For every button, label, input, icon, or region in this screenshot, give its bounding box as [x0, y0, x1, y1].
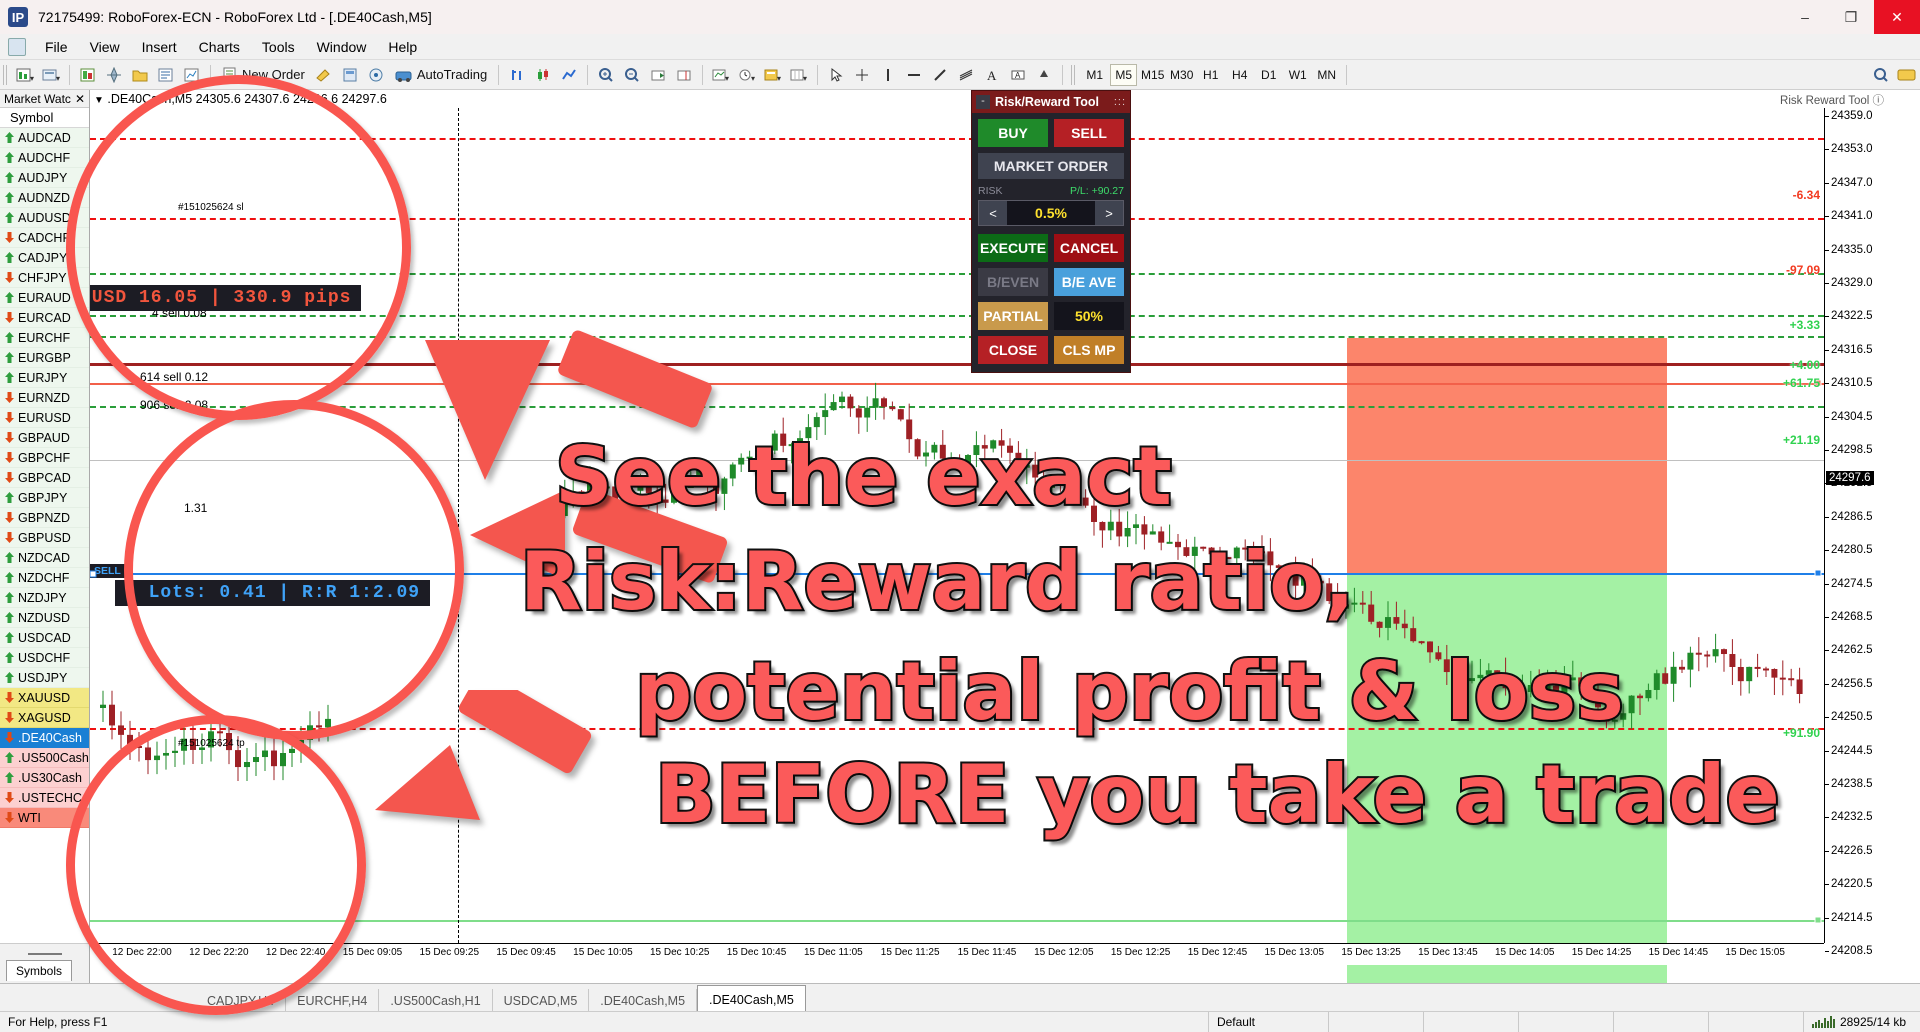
svg-text:▾: ▾: [803, 74, 807, 83]
equidistant-channel-icon[interactable]: [955, 64, 977, 86]
search-icon[interactable]: [1870, 64, 1892, 86]
symbol-label: GBPNZD: [18, 511, 70, 525]
price-tick-label: 24359.0: [1831, 110, 1873, 122]
zoom-in-icon[interactable]: [595, 64, 617, 86]
partial-button[interactable]: PARTIAL: [978, 302, 1048, 330]
symbol-row[interactable]: NZDCHF: [0, 568, 89, 588]
arrow-down-icon: [4, 432, 15, 443]
risk-reward-tool-panel[interactable]: - Risk/Reward Tool ::: BUY SELL MARKET O…: [971, 90, 1131, 373]
rr-panel-body: BUY SELL MARKET ORDER RISK P/L: +90.27 <…: [972, 113, 1130, 372]
symbol-label: CADCHF: [18, 231, 70, 245]
svg-text:A: A: [1015, 71, 1021, 80]
price-tick-label: 24268.5: [1831, 611, 1873, 623]
signals-icon[interactable]: [365, 64, 387, 86]
symbol-label: AUDCAD: [18, 131, 71, 145]
price-tick-label: 24220.5: [1831, 878, 1873, 890]
time-tick-label: 15 Dec 11:05: [804, 947, 863, 958]
level-value-tag: +91.90: [1783, 726, 1820, 740]
time-tick-label: 15 Dec 13:05: [1265, 947, 1325, 958]
market-watch-footer: Symbols: [0, 943, 90, 983]
mt-icon: [8, 38, 26, 56]
arrow-up-icon: [4, 372, 15, 383]
time-scale[interactable]: 12 Dec 22:0012 Dec 22:2012 Dec 22:4015 D…: [90, 943, 1824, 965]
text-label-icon[interactable]: A: [1007, 64, 1029, 86]
symbol-row[interactable]: GBPNZD: [0, 508, 89, 528]
time-tick-label: 15 Dec 10:25: [650, 947, 710, 958]
indicators-icon[interactable]: ▾: [710, 64, 732, 86]
symbol-row[interactable]: EURCHF: [0, 328, 89, 348]
risk-value[interactable]: 0.5%: [1007, 201, 1095, 225]
price-tick-mark: [1825, 784, 1829, 785]
arrow-down-icon: [4, 792, 15, 803]
timeframe-grip[interactable]: [1071, 65, 1077, 85]
time-tick-label: 15 Dec 13:45: [1418, 947, 1478, 958]
crosshair-icon[interactable]: [851, 64, 873, 86]
symbol-row[interactable]: AUDCHF: [0, 148, 89, 168]
arrow-down-icon: [4, 452, 15, 463]
status-help-text: For Help, press F1: [0, 1015, 107, 1029]
svg-text:▾: ▾: [30, 74, 34, 83]
time-tick-label: 15 Dec 09:45: [496, 947, 556, 958]
symbol-label: GBPAUD: [18, 431, 70, 445]
arrow-down-icon: [4, 712, 15, 723]
auto-scroll-icon[interactable]: [647, 64, 669, 86]
symbol-label: EURGBP: [18, 351, 71, 365]
navigator-icon[interactable]: [103, 64, 125, 86]
arrow-down-icon: [4, 692, 15, 703]
price-tick-label: 24322.5: [1831, 310, 1873, 322]
symbol-label: XAUUSD: [18, 691, 70, 705]
symbol-row[interactable]: .US30Cash: [0, 768, 89, 788]
symbol-label: .USTECHC: [18, 791, 82, 805]
price-tick-mark: [1825, 216, 1829, 217]
symbol-row[interactable]: .DE40Cash: [0, 728, 89, 748]
arrow-up-icon: [4, 352, 15, 363]
arrow-to-top-callout: [425, 330, 725, 500]
mql5-community-icon[interactable]: [1896, 64, 1918, 86]
price-tick-label: 24238.5: [1831, 778, 1873, 790]
symbol-row[interactable]: XAUUSD: [0, 688, 89, 708]
price-tick-label: 24341.0: [1831, 210, 1873, 222]
chart-tab[interactable]: .US500Cash,H1: [379, 989, 492, 1011]
arrow-up-icon: [4, 172, 15, 183]
arrow-up-icon: [4, 632, 15, 643]
arrow-up-icon: [4, 612, 15, 623]
symbol-label: USDCAD: [18, 631, 71, 645]
profiles-icon[interactable]: ▾: [40, 64, 62, 86]
chart-tab[interactable]: EURCHF,H4: [286, 989, 379, 1011]
price-tick-mark: [1825, 517, 1829, 518]
expert-advisors-icon[interactable]: [339, 64, 361, 86]
close-mp-button[interactable]: CLS MP: [1054, 336, 1124, 364]
price-tick-mark: [1825, 817, 1829, 818]
price-tick-label: 24250.5: [1831, 711, 1873, 723]
symbol-label: GBPUSD: [18, 531, 71, 545]
menu-bar: FileViewInsertChartsToolsWindowHelp: [0, 34, 1920, 60]
chart-tab[interactable]: .DE40Cash,M5: [697, 985, 806, 1011]
level-value-tag: +3.33: [1790, 318, 1820, 332]
time-tick-label: 15 Dec 10:45: [727, 947, 787, 958]
symbol-row[interactable]: NZDUSD: [0, 608, 89, 628]
bar-chart-icon[interactable]: [506, 64, 528, 86]
price-tick-label: 24310.5: [1831, 377, 1873, 389]
buy-button[interactable]: BUY: [978, 119, 1048, 147]
app-logo-icon: IP: [8, 7, 28, 27]
timeframes-icon[interactable]: ▾: [736, 64, 758, 86]
level-value-tag: -97.09: [1786, 263, 1820, 277]
signal-bars-icon: [1812, 1016, 1835, 1028]
menu-view[interactable]: View: [79, 37, 131, 57]
symbol-row[interactable]: USDJPY: [0, 668, 89, 688]
risk-row-labels: RISK P/L: +90.27: [978, 185, 1124, 197]
price-tick-mark: [1825, 951, 1829, 952]
arrow-down-icon: [4, 392, 15, 403]
arrow-up-icon: [4, 572, 15, 583]
current-price-label: 24297.6: [1826, 471, 1874, 485]
market-watch-title: Market Watc: [4, 92, 71, 106]
terminal-icon[interactable]: [155, 64, 177, 86]
level-value-tag: +4.00: [1790, 358, 1820, 372]
toolbar-grip[interactable]: [3, 65, 9, 85]
price-tick-mark: [1825, 650, 1829, 651]
symbol-label: AUDNZD: [18, 191, 70, 205]
menu-help[interactable]: Help: [377, 37, 428, 57]
symbols-tab[interactable]: Symbols: [6, 960, 72, 981]
callout-circle-bottom: [66, 715, 366, 1015]
symbol-row[interactable]: XAGUSD: [0, 708, 89, 728]
time-tick-label: 15 Dec 12:45: [1188, 947, 1248, 958]
window-title: 72175499: RoboForex-ECN - RoboForex Ltd …: [38, 9, 432, 25]
symbol-row[interactable]: EURUSD: [0, 408, 89, 428]
arrow-up-icon: [4, 552, 15, 563]
arrow-to-bottom-callout: [375, 690, 615, 830]
price-tick-mark: [1825, 884, 1829, 885]
break-even-button[interactable]: B/EVEN: [978, 268, 1048, 296]
time-tick-label: 15 Dec 14:05: [1495, 947, 1555, 958]
level-value-tag: +21.19: [1783, 433, 1820, 447]
price-tick-label: 24226.5: [1831, 845, 1873, 857]
time-tick-label: 15 Dec 10:05: [573, 947, 633, 958]
arrow-down-icon: [4, 232, 15, 243]
svg-text:A: A: [987, 68, 997, 83]
menu-charts[interactable]: Charts: [188, 37, 251, 57]
arrow-down-icon: [4, 532, 15, 543]
menu-file[interactable]: File: [34, 37, 79, 57]
price-tick-label: 24232.5: [1831, 811, 1873, 823]
price-tick-label: 24335.0: [1831, 244, 1873, 256]
arrow-up-icon: [4, 212, 15, 223]
symbol-label: CHFJPY: [18, 271, 67, 285]
symbol-label: CADJPY: [18, 251, 67, 265]
symbol-row[interactable]: NZDJPY: [0, 588, 89, 608]
be-average-button[interactable]: B/E AVE: [1054, 268, 1124, 296]
timeframe-mn[interactable]: MN: [1313, 64, 1340, 86]
symbol-label: NZDCHF: [18, 571, 69, 585]
arrow-down-icon: [4, 272, 15, 283]
drag-handle-icon[interactable]: :::: [1114, 96, 1126, 108]
symbol-label: WTI: [18, 811, 41, 825]
arrow-down-icon: [4, 512, 15, 523]
horizontal-line-icon[interactable]: [903, 64, 925, 86]
price-tick-label: 24208.5: [1831, 945, 1873, 957]
symbol-label: XAGUSD: [18, 711, 71, 725]
autotrading-label: AutoTrading: [417, 67, 487, 82]
symbol-label: AUDUSD: [18, 211, 71, 225]
price-tick-mark: [1825, 350, 1829, 351]
menu-insert[interactable]: Insert: [131, 37, 188, 57]
price-tick-label: 24329.0: [1831, 277, 1873, 289]
arrow-up-icon: [4, 652, 15, 663]
zoom-out-icon[interactable]: [621, 64, 643, 86]
market-watch-icon[interactable]: [77, 64, 99, 86]
arrow-up-icon: [4, 672, 15, 683]
timeframe-m5[interactable]: M5: [1110, 64, 1137, 86]
data-folder-icon[interactable]: [129, 64, 151, 86]
time-tick-label: 15 Dec 12:25: [1111, 947, 1171, 958]
arrow-down-icon: [4, 312, 15, 323]
symbol-row[interactable]: EURCAD: [0, 308, 89, 328]
price-tick-mark: [1825, 450, 1829, 451]
svg-text:▾: ▾: [751, 74, 755, 83]
text-icon[interactable]: A: [981, 64, 1003, 86]
title-bar: IP 72175499: RoboForex-ECN - RoboForex L…: [0, 0, 1920, 34]
menu-tools[interactable]: Tools: [251, 37, 306, 57]
symbol-row[interactable]: GBPCHF: [0, 448, 89, 468]
time-tick-label: 15 Dec 13:25: [1341, 947, 1401, 958]
price-tick-label: 24353.0: [1831, 143, 1873, 155]
arrow-down-icon: [4, 812, 15, 823]
arrow-up-icon: [4, 592, 15, 603]
arrow-up-icon: [4, 252, 15, 263]
metaeditor-icon[interactable]: [313, 64, 335, 86]
maximize-button[interactable]: ❐: [1828, 0, 1874, 34]
symbol-row[interactable]: GBPJPY: [0, 488, 89, 508]
arrow-up-icon: [4, 152, 15, 163]
risk-decrease-button[interactable]: <: [979, 201, 1007, 225]
timeframe-h1[interactable]: H1: [1197, 64, 1224, 86]
symbol-label: NZDJPY: [18, 591, 67, 605]
arrow-down-icon: [4, 732, 15, 743]
price-tick-mark: [1825, 918, 1829, 919]
symbol-row[interactable]: EURJPY: [0, 368, 89, 388]
arrow-down-icon: [4, 412, 15, 423]
price-tick-mark: [1825, 417, 1829, 418]
sell-button[interactable]: SELL: [1054, 119, 1124, 147]
status-cell-3: [1518, 1012, 1613, 1032]
status-cell-4: [1613, 1012, 1708, 1032]
symbol-label: GBPCHF: [18, 451, 70, 465]
price-tick-mark: [1825, 851, 1829, 852]
vertical-line-icon[interactable]: [877, 64, 899, 86]
menu-window[interactable]: Window: [306, 37, 378, 57]
market-order-button[interactable]: MARKET ORDER: [978, 153, 1124, 179]
cursor-icon[interactable]: [825, 64, 847, 86]
price-tick-mark: [1825, 116, 1829, 117]
price-tick-label: 24244.5: [1831, 745, 1873, 757]
market-watch-header: Market Watc ✕: [0, 90, 89, 108]
symbol-row[interactable]: AUDJPY: [0, 168, 89, 188]
sell-badge-handle[interactable]: [90, 571, 97, 578]
timeframe-m1[interactable]: M1: [1081, 64, 1108, 86]
price-tick-label: 24256.5: [1831, 678, 1873, 690]
symbol-row[interactable]: .US500Cash: [0, 748, 89, 768]
window-controls: – ❐ ✕: [1782, 0, 1920, 34]
arrow-up-icon: [4, 492, 15, 503]
rr-panel-title: Risk/Reward Tool: [995, 95, 1099, 109]
price-scale[interactable]: 24359.024353.024347.024341.024335.024329…: [1824, 108, 1920, 943]
traffic-label: 28925/14 kb: [1840, 1015, 1906, 1029]
bid-handle[interactable]: [1815, 570, 1822, 577]
symbol-label: EURCHF: [18, 331, 70, 345]
symbol-row[interactable]: EURGBP: [0, 348, 89, 368]
price-tick-mark: [1825, 617, 1829, 618]
grid-icon[interactable]: ▾: [788, 64, 810, 86]
rr-minimize-button[interactable]: -: [976, 95, 990, 109]
chart-tab[interactable]: .DE40Cash,M5: [589, 989, 697, 1011]
time-tick-label: 15 Dec 14:25: [1572, 947, 1632, 958]
symbol-row[interactable]: AUDCAD: [0, 128, 89, 148]
price-tick-mark: [1825, 183, 1829, 184]
line-chart-icon[interactable]: [558, 64, 580, 86]
candlestick-chart-icon[interactable]: [532, 64, 554, 86]
price-tick-label: 24347.0: [1831, 177, 1873, 189]
symbol-label: AUDCHF: [18, 151, 70, 165]
scroll-slider[interactable]: [28, 953, 62, 955]
arrow-up-icon: [4, 132, 15, 143]
symbol-label: AUDJPY: [18, 171, 67, 185]
close-position-button[interactable]: CLOSE: [978, 336, 1048, 364]
templates-icon[interactable]: ▾: [762, 64, 784, 86]
execute-button[interactable]: EXECUTE: [978, 234, 1048, 262]
symbol-label: EURJPY: [18, 371, 67, 385]
new-chart-icon[interactable]: ▾: [14, 64, 36, 86]
symbol-label: NZDCAD: [18, 551, 70, 565]
symbol-row[interactable]: USDCAD: [0, 628, 89, 648]
timeframe-d1[interactable]: D1: [1255, 64, 1282, 86]
symbol-label: EURNZD: [18, 391, 70, 405]
arrow-up-icon: [4, 292, 15, 303]
time-tick-label: 15 Dec 14:45: [1649, 947, 1709, 958]
rr-panel-titlebar[interactable]: - Risk/Reward Tool :::: [972, 91, 1130, 113]
arrow-up-icon: [4, 772, 15, 783]
callout-circle-top: [66, 75, 411, 420]
arrow-down-icon: [4, 472, 15, 483]
symbol-label: .US30Cash: [18, 771, 82, 785]
time-tick-label: 15 Dec 11:25: [881, 947, 940, 958]
status-bar: For Help, press F1 Default 28925/14 kb: [0, 1011, 1920, 1032]
svg-text:▾: ▾: [725, 74, 729, 83]
symbol-label: GBPJPY: [18, 491, 67, 505]
partial-percent-button[interactable]: 50%: [1054, 302, 1124, 330]
timeframe-h4[interactable]: H4: [1226, 64, 1253, 86]
symbol-label: NZDUSD: [18, 611, 70, 625]
risk-label: RISK: [978, 185, 1003, 197]
price-tick-mark: [1825, 717, 1829, 718]
close-icon[interactable]: ✕: [75, 92, 85, 106]
timeframe-w1[interactable]: W1: [1284, 64, 1311, 86]
status-cell-5: [1708, 1012, 1803, 1032]
time-tick-label: 15 Dec 09:25: [420, 947, 480, 958]
symbol-row[interactable]: USDCHF: [0, 648, 89, 668]
price-tick-label: 24274.5: [1831, 578, 1873, 590]
price-tick-label: 24214.5: [1831, 912, 1873, 924]
risk-increase-button[interactable]: >: [1095, 201, 1123, 225]
time-tick-label: 15 Dec 15:05: [1725, 947, 1785, 958]
pl-label: P/L: +90.27: [1070, 185, 1124, 197]
chart-tab[interactable]: USDCAD,M5: [493, 989, 590, 1011]
price-tick-mark: [1825, 383, 1829, 384]
price-tick-mark: [1825, 751, 1829, 752]
autotrading-button[interactable]: AutoTrading: [389, 65, 493, 85]
symbol-row[interactable]: .USTECHC: [0, 788, 89, 808]
symbol-label: EURCAD: [18, 311, 71, 325]
price-tick-label: 24298.5: [1831, 444, 1873, 456]
minimize-button[interactable]: –: [1782, 0, 1828, 34]
price-tick-mark: [1825, 250, 1829, 251]
symbol-label: USDCHF: [18, 651, 70, 665]
status-cell-2: [1423, 1012, 1518, 1032]
tp-handle[interactable]: [1815, 917, 1822, 924]
price-tick-mark: [1825, 316, 1829, 317]
status-traffic: 28925/14 kb: [1803, 1012, 1920, 1032]
arrow-up-icon: [4, 332, 15, 343]
level-value-tag: -6.34: [1793, 188, 1820, 202]
symbol-row[interactable]: GBPUSD: [0, 528, 89, 548]
symbol-label: .DE40Cash: [18, 731, 82, 745]
svg-text:▾: ▾: [56, 74, 60, 83]
price-tick-label: 24286.5: [1831, 511, 1873, 523]
status-cell-1: [1328, 1012, 1423, 1032]
price-tick-mark: [1825, 584, 1829, 585]
time-tick-label: 15 Dec 09:05: [343, 947, 403, 958]
timeframe-m15[interactable]: M15: [1139, 64, 1166, 86]
symbol-label: .US500Cash: [18, 751, 89, 765]
price-tick-label: 24316.5: [1831, 344, 1873, 356]
time-tick-label: 15 Dec 11:45: [958, 947, 1017, 958]
symbol-label: USDJPY: [18, 671, 67, 685]
callout-circle-middle: [124, 400, 464, 740]
status-profile: Default: [1208, 1012, 1328, 1032]
level-value-tag: +61.75: [1783, 376, 1820, 390]
symbol-row[interactable]: NZDCAD: [0, 548, 89, 568]
price-tick-mark: [1825, 283, 1829, 284]
symbol-row[interactable]: GBPAUD: [0, 428, 89, 448]
trendline-icon[interactable]: [929, 64, 951, 86]
risk-stepper: < 0.5% >: [978, 200, 1124, 226]
symbol-label: EURUSD: [18, 411, 71, 425]
cancel-button[interactable]: CANCEL: [1054, 234, 1124, 262]
arrow-to-middle-callout: [470, 490, 810, 610]
symbol-row[interactable]: GBPCAD: [0, 468, 89, 488]
svg-text:▾: ▾: [777, 74, 781, 83]
price-tick-label: 24280.5: [1831, 544, 1873, 556]
symbol-column-header[interactable]: Symbol: [0, 108, 89, 128]
chart-shift-icon[interactable]: [673, 64, 695, 86]
symbol-row[interactable]: EURNZD: [0, 388, 89, 408]
timeframe-m30[interactable]: M30: [1168, 64, 1195, 86]
price-tick-mark: [1825, 550, 1829, 551]
price-tick-label: 24304.5: [1831, 411, 1873, 423]
symbol-label: EURAUD: [18, 291, 71, 305]
indicator-label: Risk Reward Tool ⓘ: [1780, 92, 1884, 108]
symbol-label: GBPCAD: [18, 471, 71, 485]
price-tick-label: 24262.5: [1831, 644, 1873, 656]
price-tick-mark: [1825, 684, 1829, 685]
time-tick-label: 15 Dec 12:05: [1034, 947, 1094, 958]
close-button[interactable]: ✕: [1874, 0, 1920, 34]
arrow-up-icon: [4, 192, 15, 203]
arrows-icon[interactable]: [1033, 64, 1055, 86]
